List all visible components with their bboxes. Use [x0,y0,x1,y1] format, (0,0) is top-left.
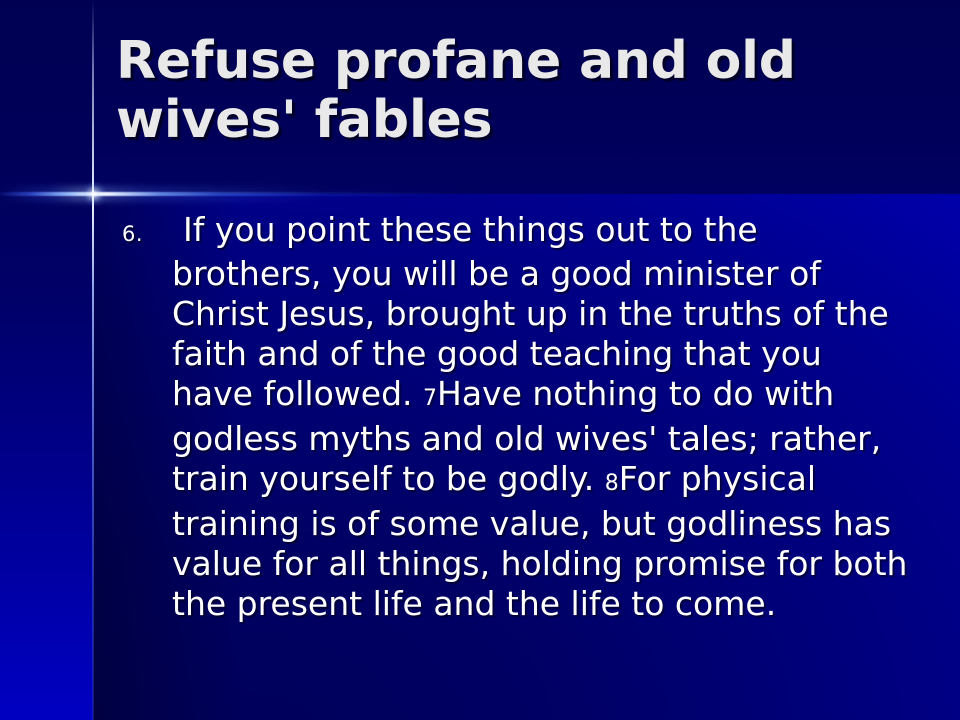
horizontal-accent-line [0,192,520,196]
slide-left-column [0,0,93,720]
list-item-marker: 6. [122,222,143,246]
slide-title: Refuse profane and old wives' fables [116,32,916,150]
verse-number-7: 7 [423,386,437,411]
vertical-accent-line [92,0,94,720]
slide-body: 6.If you point these things out to the b… [122,210,912,624]
verse-number-8: 8 [605,471,619,496]
list-item: 6.If you point these things out to the b… [122,210,912,624]
presentation-slide: Refuse profane and old wives' fables 6.I… [0,0,960,720]
accent-cross-sparkle-icon [82,182,106,206]
